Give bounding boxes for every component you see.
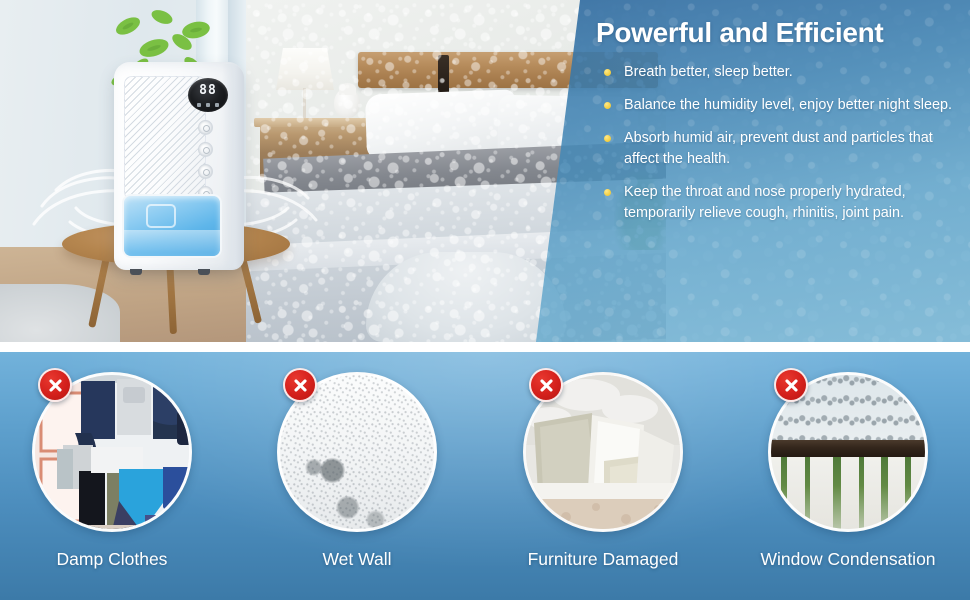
cross-icon xyxy=(292,377,309,394)
mould-streak xyxy=(805,457,810,529)
fan-speed-button-icon[interactable] xyxy=(198,164,213,179)
hero-copy: Powerful and Efficient Breath better, sl… xyxy=(596,16,958,236)
tank-water-level xyxy=(124,230,220,256)
problem-label: Furniture Damaged xyxy=(497,548,709,570)
circle-wrap xyxy=(32,372,192,532)
indicator-icon xyxy=(206,103,210,107)
status-badge xyxy=(529,368,563,402)
power-button-icon[interactable] xyxy=(198,120,213,135)
benefit-text: Keep the throat and nose properly hydrat… xyxy=(624,184,906,221)
benefit-text: Breath better, sleep better. xyxy=(624,64,793,80)
section-divider xyxy=(0,342,970,352)
mode-button-icon[interactable] xyxy=(198,142,213,157)
display-indicator-icons xyxy=(194,103,222,107)
mould-streak xyxy=(905,457,911,529)
benefit-text: Absorb humid air, prevent dust and parti… xyxy=(624,130,933,167)
bed-foot-cushion xyxy=(366,252,566,342)
indicator-icon xyxy=(215,103,219,107)
problem-card-furniture-damaged: Furniture Damaged xyxy=(497,372,709,588)
circle-wrap xyxy=(768,372,928,532)
control-panel xyxy=(198,120,213,201)
cross-icon xyxy=(783,377,800,394)
cross-icon xyxy=(538,377,555,394)
table-lamp-stem xyxy=(303,88,306,120)
problem-card-damp-clothes: Damp Clothes xyxy=(6,372,218,588)
problem-label: Wet Wall xyxy=(251,548,463,570)
water-tank xyxy=(122,194,222,258)
page-title: Powerful and Efficient xyxy=(596,16,958,50)
unit-foot xyxy=(130,269,142,275)
cross-icon xyxy=(47,377,64,394)
bullet-dot-icon xyxy=(604,102,611,109)
window-sill xyxy=(771,457,925,529)
tank-handle xyxy=(146,204,176,228)
problem-card-wet-wall: Wet Wall xyxy=(251,372,463,588)
circle-wrap xyxy=(277,372,437,532)
status-badge xyxy=(774,368,808,402)
list-item: Breath better, sleep better. xyxy=(596,62,958,83)
window-frame-bar xyxy=(768,440,928,457)
problem-label: Damp Clothes xyxy=(6,548,218,570)
mould-streak xyxy=(881,457,888,529)
benefit-text: Balance the humidity level, enjoy better… xyxy=(624,97,952,113)
list-item: Keep the throat and nose properly hydrat… xyxy=(596,182,958,224)
mould-streak xyxy=(859,457,864,529)
list-item: Absorb humid air, prevent dust and parti… xyxy=(596,128,958,170)
bullet-dot-icon xyxy=(604,189,611,196)
problem-label: Window Condensation xyxy=(742,548,954,570)
benefit-list: Breath better, sleep better. Balance the… xyxy=(596,62,958,224)
unit-foot xyxy=(198,269,210,275)
product-feature-banner: 88 Powerful xyxy=(0,0,970,600)
problem-card-row: Damp Clothes Wet Wall xyxy=(0,352,970,600)
status-badge xyxy=(38,368,72,402)
problems-section: Damp Clothes Wet Wall xyxy=(0,352,970,600)
indicator-icon xyxy=(197,103,201,107)
led-display: 88 xyxy=(188,78,228,112)
problem-card-window-condensation: Window Condensation xyxy=(742,372,954,588)
bullet-dot-icon xyxy=(604,135,611,142)
list-item: Balance the humidity level, enjoy better… xyxy=(596,95,958,116)
table-lamp-shade xyxy=(276,48,334,90)
circle-wrap xyxy=(523,372,683,532)
mould-streak xyxy=(781,457,787,529)
owl-figurine xyxy=(334,88,360,118)
status-badge xyxy=(283,368,317,402)
bullet-dot-icon xyxy=(604,69,611,76)
display-value: 88 xyxy=(188,85,228,97)
hero-section: 88 Powerful xyxy=(0,0,970,342)
dehumidifier-unit: 88 xyxy=(114,62,244,270)
mould-streak xyxy=(833,457,841,529)
